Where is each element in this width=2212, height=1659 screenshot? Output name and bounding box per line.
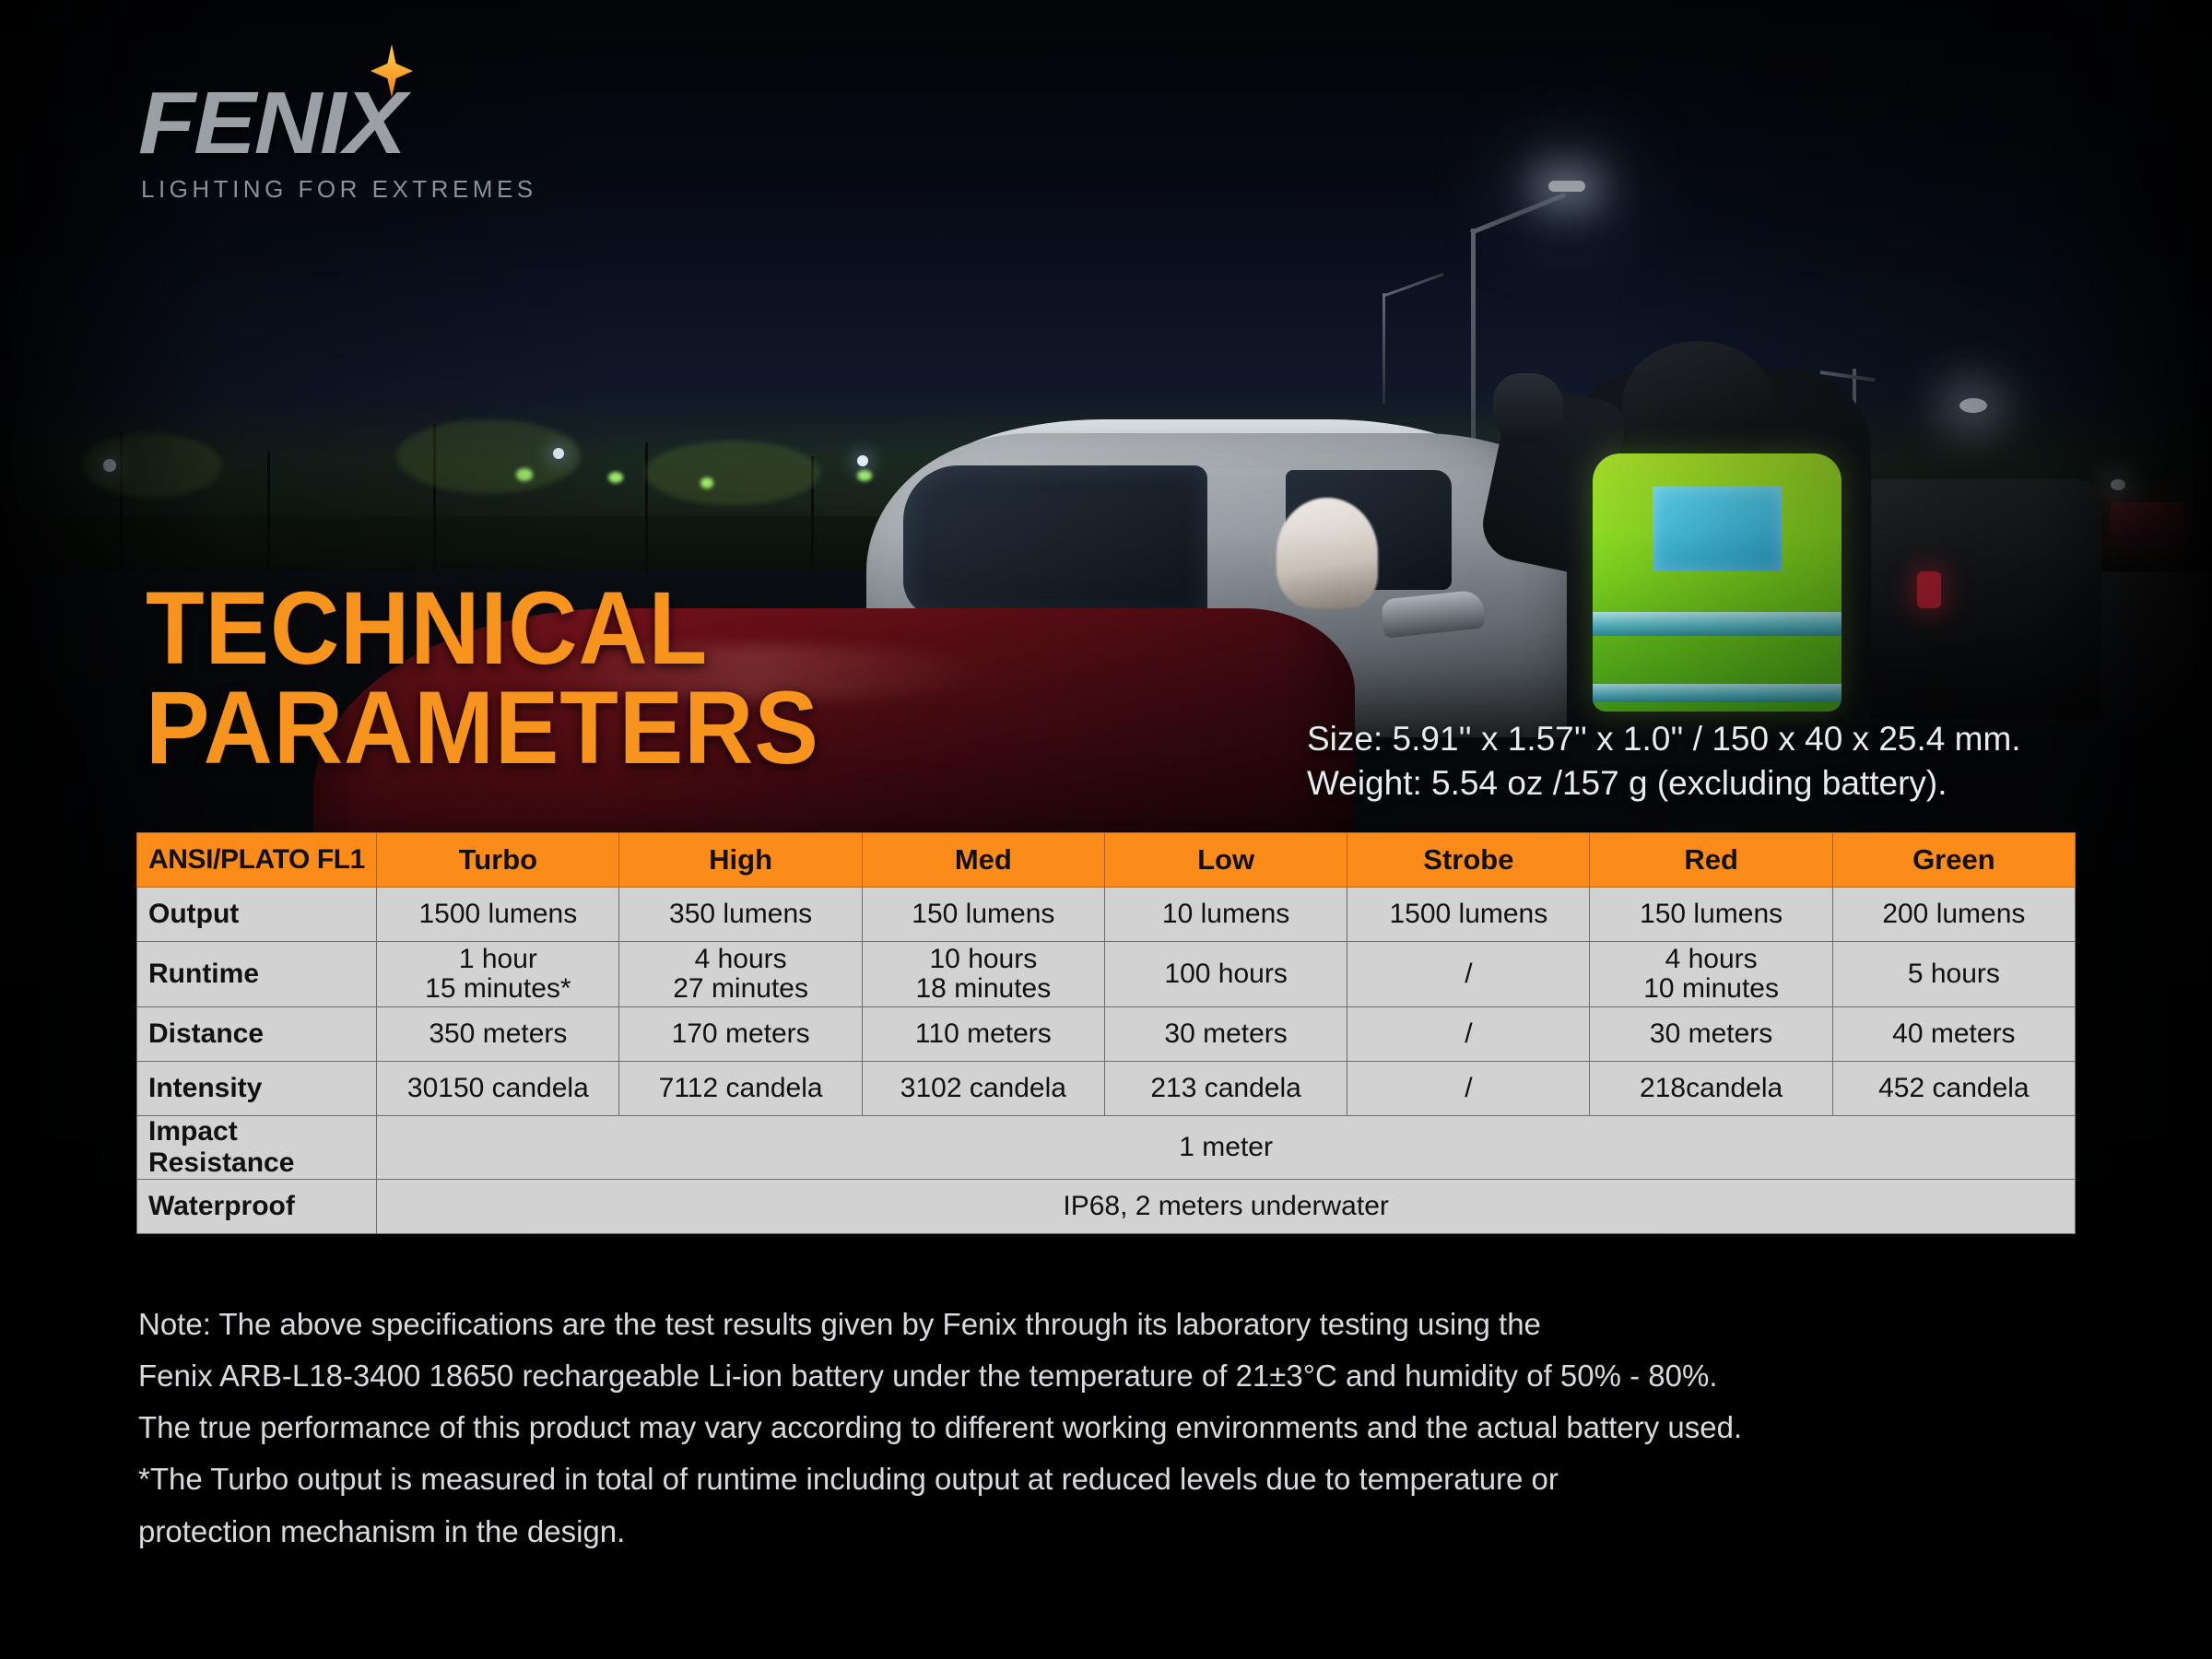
cell-intensity-med: 3102 candela [862,1062,1104,1116]
table-row: Waterproof IP68, 2 meters underwater [137,1180,2076,1234]
cell-distance-turbo: 350 meters [377,1007,619,1062]
page-title: TECHNICAL PARAMETERS [146,579,819,777]
technical-parameters-table: ANSI/PLATO FL1 Turbo High Med Low Strobe… [136,832,2076,1234]
row-label-runtime: Runtime [137,942,377,1007]
page-title-line2: PARAMETERS [146,678,819,778]
note-line-3: The true performance of this product may… [138,1405,2028,1451]
cell-intensity-green: 452 candela [1832,1062,2075,1116]
column-header-turbo: Turbo [377,833,619,888]
row-label-intensity: Intensity [137,1062,377,1116]
brand-tagline: LIGHTING FOR EXTREMES [141,175,537,204]
note-line-5: protection mechanism in the design. [138,1509,2028,1555]
table-row: Impact Resistance 1 meter [137,1116,2076,1180]
cell-intensity-strobe: / [1347,1062,1590,1116]
cell-output-green: 200 lumens [1832,888,2075,942]
cell-runtime-low: 100 hours [1104,942,1347,1007]
table-row: Intensity 30150 candela 7112 candela 310… [137,1062,2076,1116]
cell-output-med: 150 lumens [862,888,1104,942]
cell-intensity-low: 213 candela [1104,1062,1347,1116]
note-line-2: Fenix ARB-L18-3400 18650 rechargeable Li… [138,1353,2028,1399]
row-label-waterproof: Waterproof [137,1180,377,1234]
table-row: Distance 350 meters 170 meters 110 meter… [137,1007,2076,1062]
table-row: Output 1500 lumens 350 lumens 150 lumens… [137,888,2076,942]
column-header-strobe: Strobe [1347,833,1590,888]
size-weight-block: Size: 5.91'' x 1.57'' x 1.0'' / 150 x 40… [1307,717,2021,806]
cell-output-turbo: 1500 lumens [377,888,619,942]
cell-runtime-turbo: 1 hour 15 minutes* [377,942,619,1007]
column-header-med: Med [862,833,1104,888]
column-header-low: Low [1104,833,1347,888]
column-header-red: Red [1590,833,1832,888]
table-header-row: ANSI/PLATO FL1 Turbo High Med Low Strobe… [137,833,2076,888]
cell-runtime-med: 10 hours 18 minutes [862,942,1104,1007]
note-line-4: *The Turbo output is measured in total o… [138,1456,2028,1502]
cell-output-low: 10 lumens [1104,888,1347,942]
cell-runtime-high: 4 hours 27 minutes [619,942,862,1007]
cell-distance-green: 40 meters [1832,1007,2075,1062]
table-row: Runtime 1 hour 15 minutes* 4 hours 27 mi… [137,942,2076,1007]
row-label-distance: Distance [137,1007,377,1062]
cell-waterproof-value: IP68, 2 meters underwater [377,1180,2076,1234]
row-label-impact-resistance: Impact Resistance [137,1116,377,1180]
fenix-logo: FENIX LIGHTING FOR EXTREMES [138,79,525,218]
brand-name: FENIX [138,79,548,168]
cell-intensity-high: 7112 candela [619,1062,862,1116]
cell-distance-red: 30 meters [1590,1007,1832,1062]
cell-intensity-red: 218candela [1590,1062,1832,1116]
row-label-output: Output [137,888,377,942]
note-line-1: Note: The above specifications are the t… [138,1301,2028,1347]
cell-distance-med: 110 meters [862,1007,1104,1062]
cell-runtime-strobe: / [1347,942,1590,1007]
product-spec-page: FENIX LIGHTING FOR EXTREMES TECHNICAL PA… [0,0,2212,1659]
cell-runtime-red: 4 hours 10 minutes [1590,942,1832,1007]
cell-output-red: 150 lumens [1590,888,1832,942]
cell-runtime-green: 5 hours [1832,942,2075,1007]
column-header-ansi-plato-fl1: ANSI/PLATO FL1 [137,833,377,888]
page-title-line1: TECHNICAL [146,579,819,678]
cell-distance-high: 170 meters [619,1007,862,1062]
column-header-green: Green [1832,833,2075,888]
cell-intensity-turbo: 30150 candela [377,1062,619,1116]
cell-output-high: 350 lumens [619,888,862,942]
cell-distance-strobe: / [1347,1007,1590,1062]
weight-text: Weight: 5.54 oz /157 g (excluding batter… [1307,761,2021,806]
cell-output-strobe: 1500 lumens [1347,888,1590,942]
cell-impact-resistance-value: 1 meter [377,1116,2076,1180]
cell-distance-low: 30 meters [1104,1007,1347,1062]
note-block: Note: The above specifications are the t… [138,1301,2028,1560]
size-text: Size: 5.91'' x 1.57'' x 1.0'' / 150 x 40… [1307,717,2021,761]
column-header-high: High [619,833,862,888]
